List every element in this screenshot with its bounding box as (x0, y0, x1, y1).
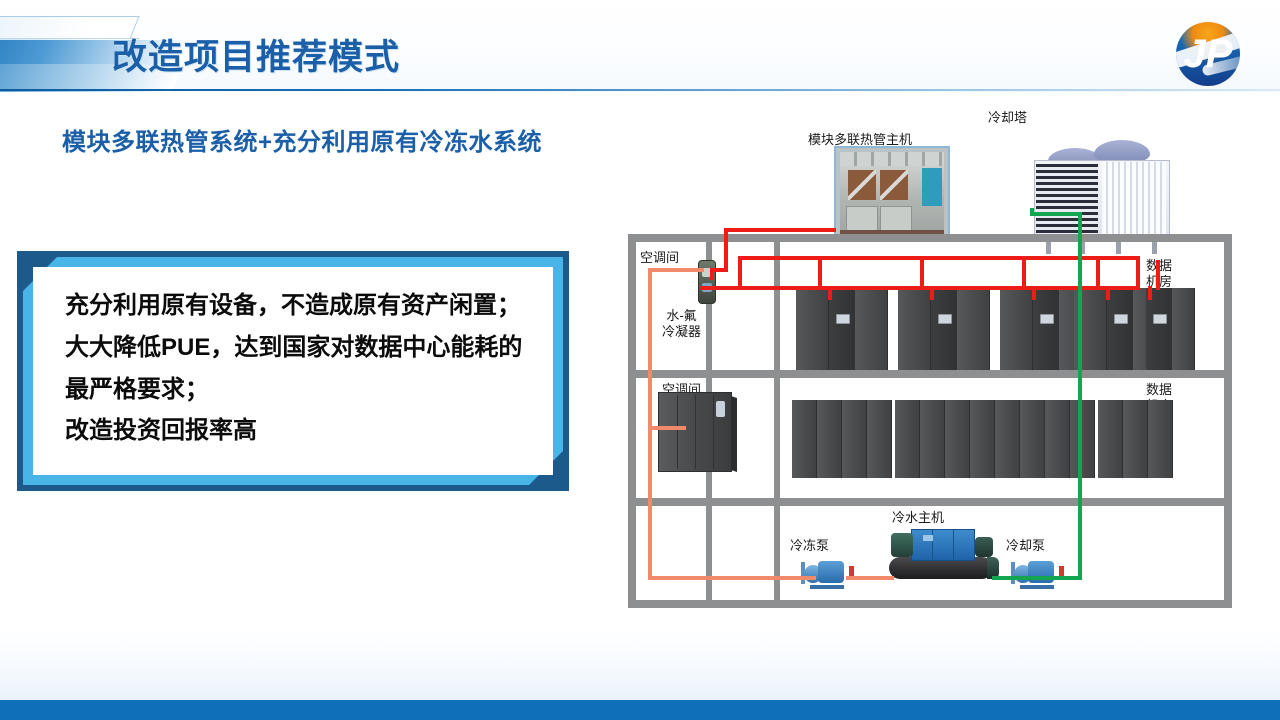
rack-crac-display (1114, 314, 1128, 324)
water-fluorine-condenser-icon (698, 260, 716, 304)
pipe-red-drop-5 (1156, 260, 1160, 290)
server-rack (1172, 288, 1195, 370)
label-cooling-pump: 冷却泵 (1006, 538, 1045, 554)
pipe-orange-to-condenser (648, 268, 704, 272)
chiller-compressor (891, 533, 913, 557)
callout-line-3: 最严格要求； (65, 369, 545, 411)
rack-crac (829, 288, 855, 370)
chiller-vcoil (848, 170, 876, 200)
crac-side (731, 396, 737, 472)
label-water-chiller: 冷水主机 (892, 510, 944, 526)
server-rack (995, 400, 1020, 478)
server-rack (842, 400, 867, 478)
pipe-red-drop-cond (710, 268, 714, 280)
rack-group (796, 288, 888, 370)
pipe-green-to-cooling-pump (992, 576, 1082, 580)
footer-bar (0, 700, 1280, 720)
slide-header: 改造项目推荐模式 (0, 0, 1280, 92)
pipe-orange-to-crac (648, 426, 686, 430)
pump-base (1020, 585, 1054, 589)
section-subtitle: 模块多联热管系统+充分利用原有冷冻水系统 (62, 122, 542, 157)
chiller-nameplate (923, 535, 933, 541)
server-rack (1098, 400, 1123, 478)
rack-group (1146, 288, 1195, 370)
chiller-cabinet-seam (953, 530, 954, 560)
rack-crac (1107, 288, 1133, 370)
partition-low-a (706, 506, 712, 600)
chiller-cabinet (911, 529, 975, 561)
crac-display (716, 401, 725, 417)
label-condenser: 水-氟 冷凝器 (662, 308, 701, 341)
building-wall-left (628, 234, 636, 608)
pump-motor (818, 561, 844, 583)
server-rack (970, 400, 995, 478)
water-chiller-icon (885, 527, 999, 583)
header-divider (0, 89, 1280, 91)
pipe-red-drop-3b (1032, 286, 1036, 300)
building-floor-1 (628, 370, 1232, 378)
pipe-red-drop-1 (818, 260, 822, 290)
crac-seam (713, 395, 714, 469)
label-cooling-tower: 冷却塔 (988, 110, 1027, 126)
pipe-red-drop-2b (930, 286, 934, 300)
cooling-water-pump-icon (1014, 560, 1060, 586)
server-rack (855, 288, 888, 370)
rack-crac (1033, 288, 1059, 370)
rack-crac (1146, 288, 1172, 370)
pipe-green-from-tower (1030, 212, 1082, 216)
server-rack (1148, 400, 1173, 478)
rack-crac-display (938, 314, 952, 324)
pipe-orange-riser (648, 268, 652, 580)
system-diagram: 模块多联热管主机 冷却塔 (600, 100, 1280, 630)
pipe-orange-to-chilled-pump (648, 576, 816, 580)
cooling-tower-panel (1102, 162, 1166, 236)
server-rack (1123, 400, 1148, 478)
footer-gradient (0, 628, 1280, 700)
server-rack (895, 400, 920, 478)
rack-crac-display (836, 314, 850, 324)
partition-low-b (774, 506, 780, 600)
server-rack (817, 400, 842, 478)
chiller-side-panel (922, 168, 942, 206)
label-ac-room-top: 空调间 (640, 250, 679, 266)
server-rack (1020, 400, 1045, 478)
server-rack (1070, 400, 1095, 478)
pipe-orange-pump-to-chiller (846, 576, 894, 580)
rack-crac-display (1153, 314, 1167, 324)
pipe-red-drop-1b (828, 286, 832, 300)
pipe-red-riser (724, 228, 728, 272)
server-rack (1045, 400, 1070, 478)
pipe-red-drop-5b (1148, 286, 1152, 300)
cooling-tower-louvers (1036, 164, 1098, 234)
partition-top-b (774, 242, 780, 370)
pipe-green-tower-drop (1030, 208, 1034, 216)
pipe-red-to-chiller (724, 228, 836, 232)
label-chilled-pump: 冷冻泵 (790, 538, 829, 554)
cooling-tower-icon (1028, 134, 1174, 246)
building-wall-bottom (628, 600, 1232, 608)
module-heatpipe-chiller-image (834, 146, 950, 242)
rack-row-mid (792, 400, 1173, 478)
server-rack (792, 400, 817, 478)
building-wall-top (628, 234, 1232, 242)
company-logo-icon: JP (1176, 22, 1240, 86)
callout-box: 充分利用原有设备，不造成原有资产闲置； 大大降低PUE，达到国家对数据中心能耗的… (17, 251, 569, 491)
pipe-green-riser (1078, 212, 1082, 580)
pipe-red-drop-4 (1096, 260, 1100, 290)
server-rack (796, 288, 829, 370)
rack-crac-display (1040, 314, 1054, 324)
server-rack (898, 288, 931, 370)
server-rack (945, 400, 970, 478)
pump-base (810, 585, 844, 589)
chilled-water-pump-icon (804, 560, 850, 586)
rack-group (898, 288, 990, 370)
crac-seam (695, 395, 696, 469)
callout-line-4: 改造投资回报率高 (65, 410, 545, 452)
pipe-red-drop-4b (1106, 286, 1110, 300)
server-rack (1000, 288, 1033, 370)
slide-root: 改造项目推荐模式 JP 模块多联热管系统+充分利用原有冷冻水系统 充分利用原有设… (0, 0, 1280, 720)
server-rack (920, 400, 945, 478)
server-rack (867, 400, 892, 478)
rack-crac (931, 288, 957, 370)
pipe-red-header-link-right (1136, 256, 1140, 290)
callout-text: 充分利用原有设备，不造成原有资产闲置； 大大降低PUE，达到国家对数据中心能耗的… (65, 285, 545, 452)
page-title: 改造项目推荐模式 (112, 29, 400, 80)
crac-unit-icon (658, 392, 732, 472)
chiller-compressor-2 (975, 537, 993, 557)
partition-mid-b (774, 378, 780, 498)
callout-line-1: 充分利用原有设备，不造成原有资产闲置； (65, 285, 545, 327)
chiller-top-fans (840, 152, 944, 166)
crac-seam (677, 395, 678, 469)
server-rack (957, 288, 990, 370)
pipe-red-header-link (738, 256, 742, 290)
pipe-red-drop-3 (1022, 260, 1026, 290)
building-floor-2 (628, 498, 1232, 506)
pipe-red-drop-2 (920, 260, 924, 290)
logo-letters: JP (1176, 22, 1240, 86)
building-wall-right (1224, 234, 1232, 608)
chiller-vcoil (880, 170, 908, 200)
callout-line-2: 大大降低PUE，达到国家对数据中心能耗的 (65, 327, 545, 369)
